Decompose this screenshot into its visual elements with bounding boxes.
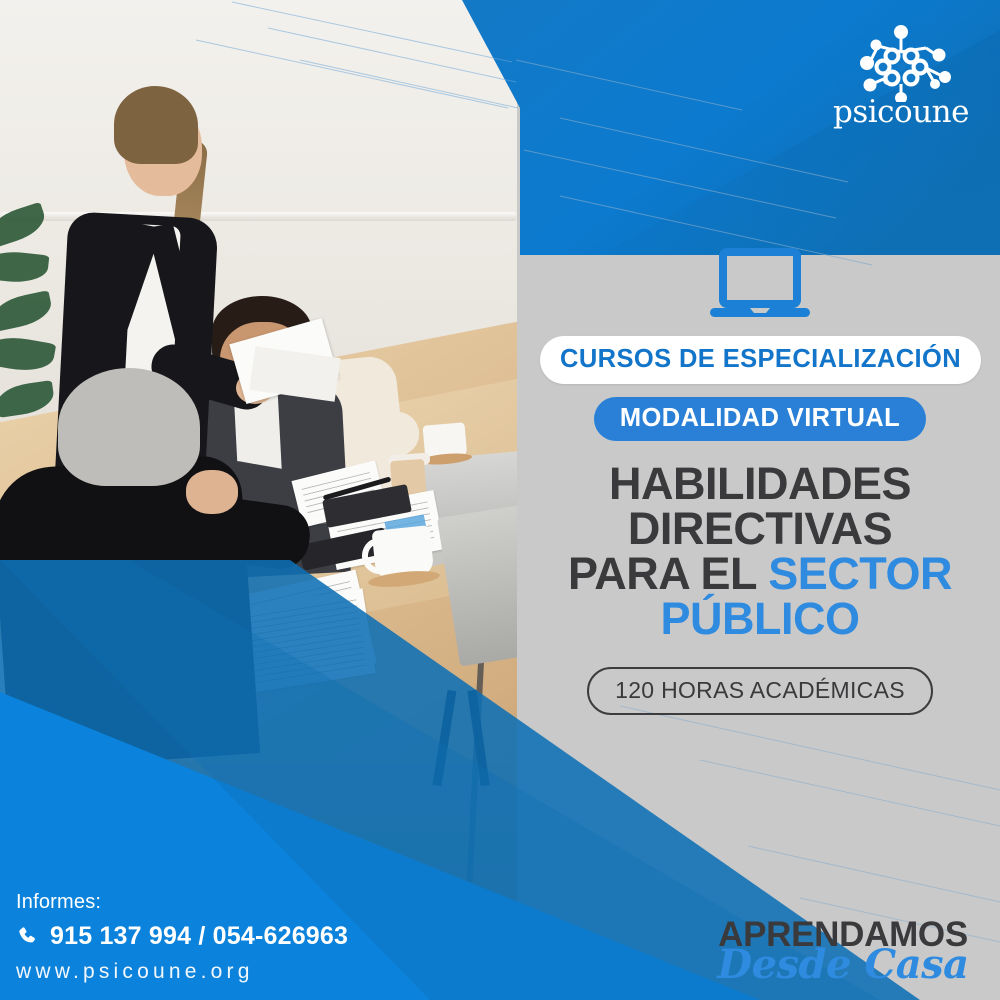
headline-line-3-dark: PARA EL [568, 548, 768, 599]
molecule-icon [826, 22, 976, 102]
hours-badge: 120 HORAS ACADÉMICAS [587, 667, 933, 715]
modality-pill: MODALIDAD VIRTUAL [594, 397, 926, 441]
logo-wordmark: psicoune [826, 97, 976, 128]
phone-icon [16, 925, 40, 949]
headline-line-1: HABILIDADES [540, 461, 980, 506]
informes-label: Informes: [16, 891, 446, 914]
content-block: CURSOS DE ESPECIALIZACIÓN MODALIDAD VIRT… [540, 248, 980, 715]
headline-line-2: DIRECTIVAS [540, 506, 980, 551]
website-url[interactable]: www.psicoune.org [16, 960, 446, 984]
brand-logo: psicoune [826, 22, 976, 130]
promotional-poster: psicoune CURSOS DE ESPECIALIZACIÓN MODAL… [0, 0, 1000, 1000]
kicker-pill: CURSOS DE ESPECIALIZACIÓN [540, 336, 981, 384]
phone-number[interactable]: 915 137 994 / 054-626963 [50, 922, 348, 951]
footer-contact: Informes: 915 137 994 / 054-626963 www.p… [16, 891, 446, 984]
tagline: APRENDAMOS Desde Casa [708, 917, 978, 984]
headline-line-3-accent: SECTOR [768, 548, 952, 599]
headline: HABILIDADES DIRECTIVAS PARA EL SECTOR PÚ… [540, 461, 980, 641]
tagline-line-2: Desde Casa [708, 946, 978, 984]
headline-line-4: PÚBLICO [540, 596, 980, 641]
laptop-icon [708, 248, 812, 320]
headline-line-3: PARA EL SECTOR [540, 551, 980, 596]
phone-row: 915 137 994 / 054-626963 [16, 922, 446, 951]
